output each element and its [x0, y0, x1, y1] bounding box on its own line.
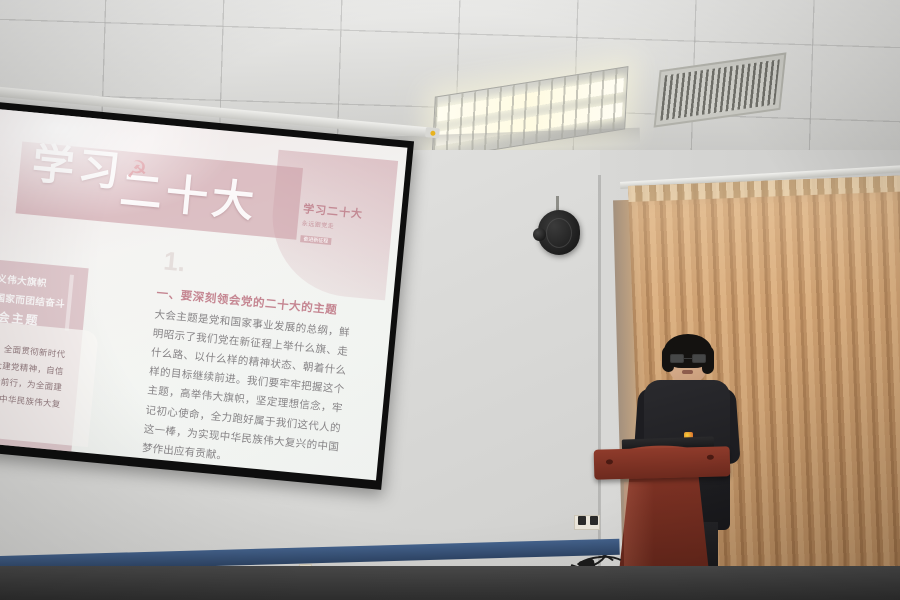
wall-speaker-icon [538, 210, 580, 255]
corner-logo-tag: 奋进新征程 [300, 235, 332, 245]
podium-top-surface [594, 446, 731, 480]
power-plug [578, 516, 586, 525]
screen-surface: 学习二十大 ☭ 1. 学习二十大 永远跟党走 奋进新征程 中国特色社会主义伟大旗… [0, 108, 407, 481]
screen-frame: 学习二十大 ☭ 1. 学习二十大 永远跟党走 奋进新征程 中国特色社会主义伟大旗… [0, 100, 414, 490]
slide-corner-logo: 学习二十大 永远跟党走 奋进新征程 [301, 200, 386, 244]
floor [0, 566, 900, 600]
presentation-room-photo: 学习二十大 ☭ 1. 学习二十大 永远跟党走 奋进新征程 中国特色社会主义伟大旗… [0, 0, 900, 600]
screen-glare [0, 108, 241, 235]
slide-number: 1. [162, 245, 187, 278]
theme-card-body: 社会主义伟大旗帜，全面贯彻新时代 主义思想，弘扬伟大建党精神，自信 斩，踔厉奋发… [0, 333, 97, 415]
glasses-icon [670, 354, 706, 363]
slide-theme-card: 大会主题 社会主义伟大旗帜，全面贯彻新时代 主义思想，弘扬伟大建党精神，自信 斩… [0, 315, 99, 447]
projection-screen: 学习二十大 ☭ 1. 学习二十大 永远跟党走 奋进新征程 中国特色社会主义伟大旗… [0, 100, 414, 490]
slide-body-column: 一、要深刻领会党的二十大的主题 大会主题是党和国家事业发展的总纲，鲜明昭示了我们… [141, 285, 352, 477]
power-plug [590, 516, 598, 525]
slide-body-paragraph: 大会主题是党和国家事业发展的总纲，鲜明昭示了我们党在新征程上举什么旗、走什么路、… [141, 306, 351, 477]
